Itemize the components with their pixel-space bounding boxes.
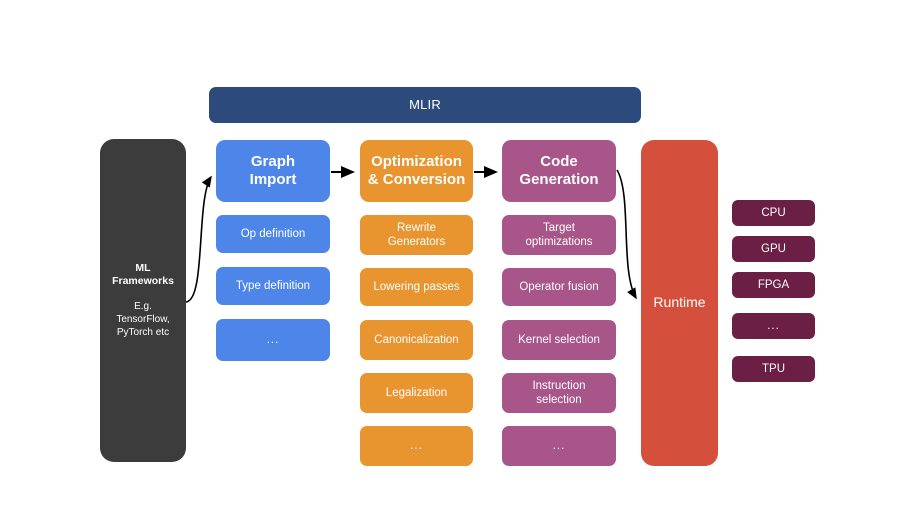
- hardware-gpu-label: GPU: [761, 242, 786, 256]
- item-graph-import-more[interactable]: ...: [216, 319, 330, 361]
- stage-header-code-generation[interactable]: Code Generation: [502, 140, 616, 202]
- item-code-generation-more-label: ...: [553, 439, 566, 453]
- item-operator-fusion-label: Operator fusion: [519, 280, 598, 294]
- ml-frameworks-subtitle-line1: E.g.: [116, 300, 169, 313]
- item-type-definition-label: Type definition: [236, 279, 310, 293]
- item-rewrite-generators[interactable]: Rewrite Generators: [360, 215, 473, 255]
- item-graph-import-more-label: ...: [267, 333, 280, 347]
- arrow-code-generation-to-runtime: [617, 170, 636, 298]
- item-legalization-label: Legalization: [386, 386, 447, 400]
- item-instruction-selection[interactable]: Instruction selection: [502, 373, 616, 413]
- hardware-cpu-label: CPU: [761, 206, 785, 220]
- item-target-optimizations[interactable]: Target optimizations: [502, 215, 616, 255]
- ml-frameworks-subtitle-line3: PyTorch etc: [116, 326, 169, 339]
- item-lowering-passes-label: Lowering passes: [373, 280, 459, 294]
- hardware-more-label: ...: [767, 319, 780, 333]
- item-optimization-more-label: ...: [410, 439, 423, 453]
- hardware-cpu[interactable]: CPU: [732, 200, 815, 226]
- item-instruction-selection-line1: Instruction: [532, 379, 585, 393]
- item-instruction-selection-text: Instruction selection: [532, 379, 585, 407]
- stage-header-graph-import-line1: Graph: [250, 153, 297, 171]
- item-instruction-selection-line2: selection: [532, 393, 585, 407]
- item-canonicalization-label: Canonicalization: [374, 333, 458, 347]
- runtime-block[interactable]: Runtime: [641, 140, 718, 466]
- hardware-more[interactable]: ...: [732, 313, 815, 339]
- hardware-tpu-label: TPU: [762, 362, 785, 376]
- hardware-gpu[interactable]: GPU: [732, 236, 815, 262]
- runtime-label: Runtime: [653, 294, 705, 311]
- item-operator-fusion[interactable]: Operator fusion: [502, 268, 616, 306]
- diagram-canvas: MLIR ML Frameworks E.g. TensorFlow, PyTo…: [0, 0, 900, 505]
- stage-header-code-generation-line1: Code: [519, 153, 598, 171]
- ml-frameworks-title-line2: Frameworks: [112, 275, 174, 289]
- item-rewrite-generators-line1: Rewrite: [388, 221, 446, 235]
- stage-header-optimization-conversion[interactable]: Optimization & Conversion: [360, 140, 473, 202]
- item-optimization-more[interactable]: ...: [360, 426, 473, 466]
- item-target-optimizations-line2: optimizations: [525, 235, 592, 249]
- hardware-fpga[interactable]: FPGA: [732, 272, 815, 298]
- stage-header-optimization-conversion-line2: & Conversion: [368, 171, 466, 189]
- mlir-banner: MLIR: [209, 87, 641, 123]
- stage-header-code-generation-text: Code Generation: [519, 153, 598, 190]
- arrow-frameworks-to-graph-import: [186, 177, 211, 302]
- stage-header-graph-import-line2: Import: [250, 171, 297, 189]
- mlir-banner-label: MLIR: [409, 97, 441, 113]
- item-code-generation-more[interactable]: ...: [502, 426, 616, 466]
- stage-header-optimization-conversion-line1: Optimization: [368, 153, 466, 171]
- hardware-tpu[interactable]: TPU: [732, 356, 815, 382]
- ml-frameworks-title-line1: ML: [112, 262, 174, 276]
- stage-header-code-generation-line2: Generation: [519, 171, 598, 189]
- item-rewrite-generators-line2: Generators: [388, 235, 446, 249]
- hardware-fpga-label: FPGA: [758, 278, 789, 292]
- ml-frameworks-title: ML Frameworks: [112, 262, 174, 289]
- ml-frameworks-subtitle: E.g. TensorFlow, PyTorch etc: [116, 300, 169, 340]
- stage-header-graph-import-text: Graph Import: [250, 153, 297, 190]
- item-rewrite-generators-text: Rewrite Generators: [388, 221, 446, 249]
- item-target-optimizations-text: Target optimizations: [525, 221, 592, 249]
- ml-frameworks-block: ML Frameworks E.g. TensorFlow, PyTorch e…: [100, 139, 186, 462]
- stage-header-graph-import[interactable]: Graph Import: [216, 140, 330, 202]
- item-lowering-passes[interactable]: Lowering passes: [360, 268, 473, 306]
- stage-header-optimization-conversion-text: Optimization & Conversion: [368, 153, 466, 190]
- item-type-definition[interactable]: Type definition: [216, 267, 330, 305]
- item-kernel-selection[interactable]: Kernel selection: [502, 320, 616, 360]
- item-kernel-selection-label: Kernel selection: [518, 333, 600, 347]
- ml-frameworks-subtitle-line2: TensorFlow,: [116, 313, 169, 326]
- item-op-definition[interactable]: Op definition: [216, 215, 330, 253]
- item-op-definition-label: Op definition: [241, 227, 306, 241]
- item-legalization[interactable]: Legalization: [360, 373, 473, 413]
- item-target-optimizations-line1: Target: [525, 221, 592, 235]
- item-canonicalization[interactable]: Canonicalization: [360, 320, 473, 360]
